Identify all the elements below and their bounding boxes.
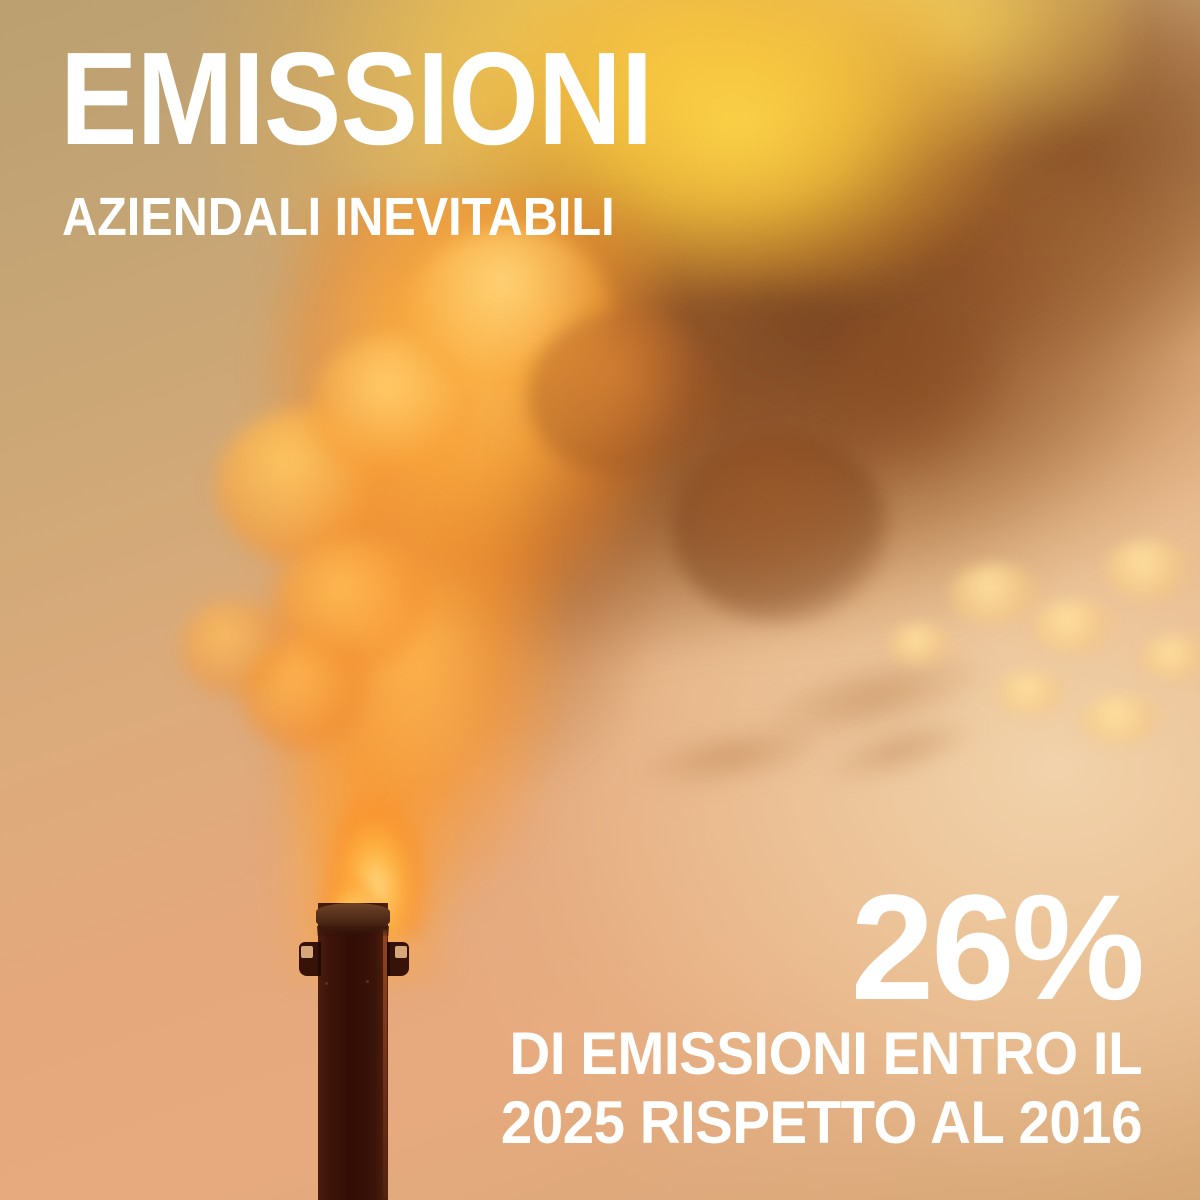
smokestack-bracket-notch-right (395, 946, 407, 958)
statistic-caption-line-2: 2025 RISPETTO AL 2016 (501, 1088, 1142, 1158)
page-subtitle: AZIENDALI INEVITABILI (62, 190, 615, 244)
sunlit-cloudlet (1032, 600, 1116, 653)
poster: EMISSIONI AZIENDALI INEVITABILI 26% DI E… (0, 0, 1200, 1200)
smoke-puff (816, 312, 1008, 480)
sunlit-cloudlet (888, 624, 954, 665)
smokestack (318, 903, 388, 1200)
page-title: EMISSIONI (60, 44, 652, 155)
smokestack-rivet (325, 982, 328, 985)
sunlit-cloudlet (1104, 540, 1194, 600)
smokestack-rim-shadow (317, 926, 389, 936)
sunlit-cloudlet (996, 672, 1068, 715)
sunlit-cloudlet (948, 564, 1044, 624)
smokestack-rivet (366, 980, 369, 983)
smokestack-bracket-notch-left (301, 946, 313, 958)
smoke-puff (180, 600, 288, 696)
statistic-caption-line-1: DI EMISSIONI ENTRO IL (501, 1019, 1142, 1089)
statistic-block: 26% DI EMISSIONI ENTRO IL 2025 RISPETTO … (460, 881, 1142, 1158)
smoke-puff (528, 312, 720, 480)
statistic-value: 26% (460, 881, 1142, 1013)
sunlit-cloudlet (1080, 696, 1164, 744)
sunlit-cloudlet (1140, 636, 1200, 679)
